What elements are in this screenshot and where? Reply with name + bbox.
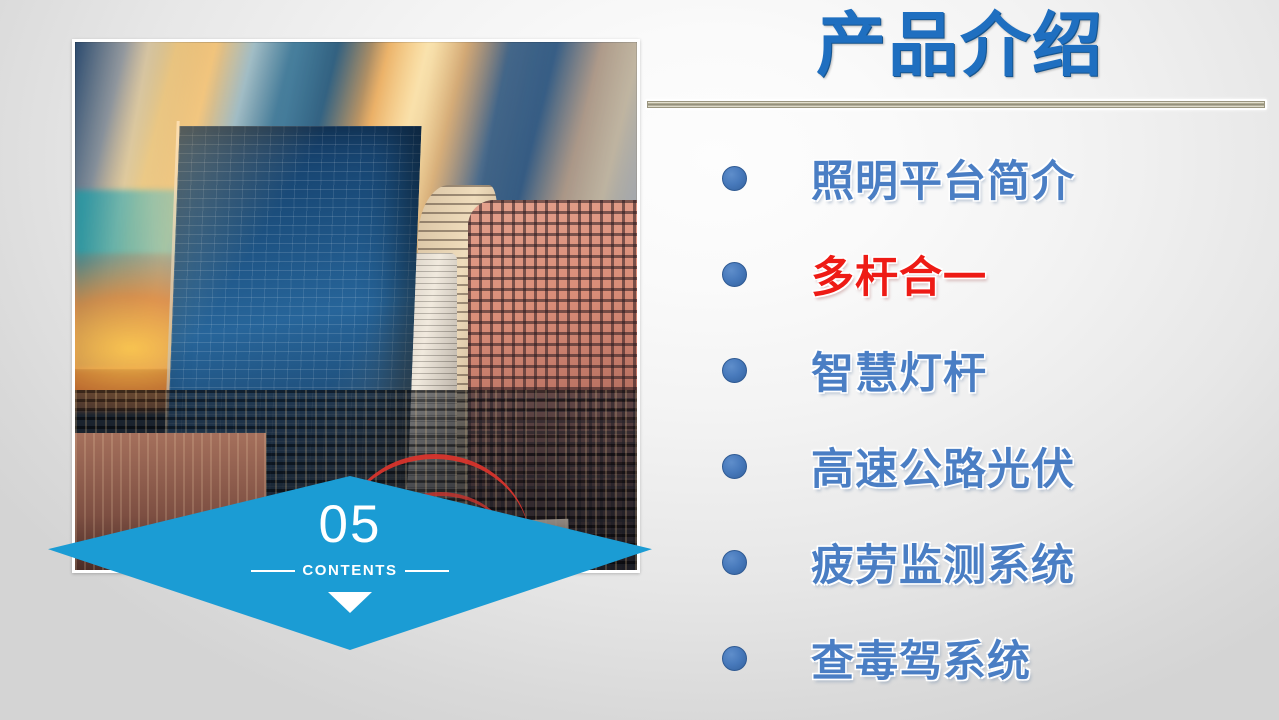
photo-card <box>72 39 640 573</box>
list-item-label: 多杆合一 <box>811 243 1270 305</box>
list-item-label: 照明平台简介 <box>811 147 1270 209</box>
list-item[interactable]: 查毒驾系统 <box>650 610 1270 706</box>
bullet-dot-icon <box>722 646 747 671</box>
page-title: 产品介绍 <box>650 4 1270 87</box>
list-item[interactable]: 疲劳监测系统 <box>650 514 1270 610</box>
list-item[interactable]: 多杆合一 <box>650 226 1270 322</box>
title-divider <box>645 99 1267 110</box>
cityscape-photo <box>75 42 637 570</box>
list-item[interactable]: 智慧灯杆 <box>650 322 1270 418</box>
list-item[interactable]: 照明平台简介 <box>650 130 1270 226</box>
list-item-label: 高速公路光伏 <box>811 435 1270 497</box>
list-item-label: 疲劳监测系统 <box>811 531 1270 593</box>
list-item[interactable]: 高速公路光伏 <box>650 418 1270 514</box>
foreground-low-rise <box>75 433 266 570</box>
divider-bar <box>647 101 1265 108</box>
list-item-label: 查毒驾系统 <box>811 627 1270 689</box>
bullet-dot-icon <box>722 166 747 191</box>
bullet-dot-icon <box>722 454 747 479</box>
list-item-label: 智慧灯杆 <box>811 339 1270 401</box>
bullet-dot-icon <box>722 262 747 287</box>
bullet-dot-icon <box>722 358 747 383</box>
agenda-list: 照明平台简介 多杆合一 智慧灯杆 高速公路光伏 疲劳监测系统 查毒驾系统 <box>650 130 1270 706</box>
triangle-down-icon <box>328 592 372 613</box>
presentation-slide: 05 CONTENTS 产品介绍 照明平台简介 多杆合一 智慧灯杆 <box>0 0 1279 720</box>
bullet-dot-icon <box>722 550 747 575</box>
